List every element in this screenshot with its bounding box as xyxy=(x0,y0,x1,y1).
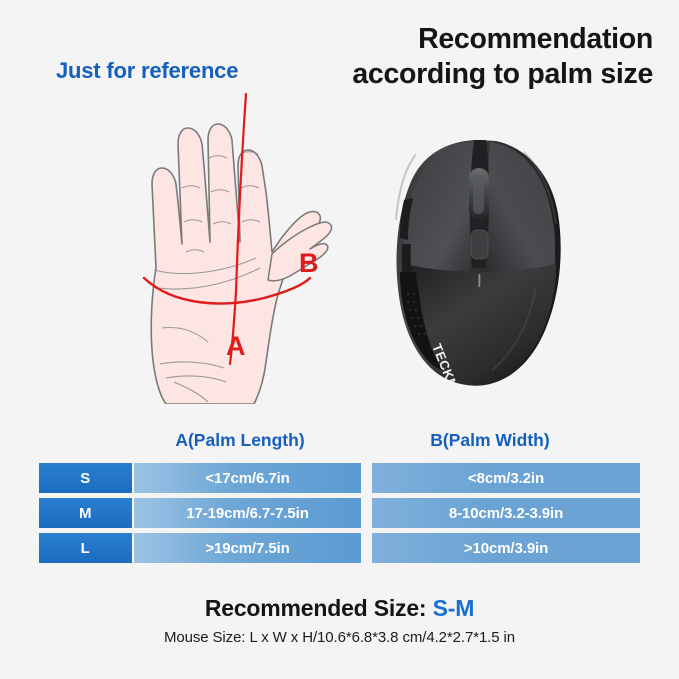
size-label-l: L xyxy=(39,533,132,563)
palm-width-value-l: >10cm/3.9in xyxy=(372,533,640,563)
recommended-size-line: Recommended Size: S-M xyxy=(0,595,679,622)
palm-length-value-s: <17cm/6.7in xyxy=(134,463,361,493)
size-chart-table: S <17cm/6.7in <8cm/3.2in M 17-19cm/6.7-7… xyxy=(39,463,640,563)
column-divider xyxy=(361,463,372,493)
size-label-s: S xyxy=(39,463,132,493)
reference-note: Just for reference xyxy=(56,58,238,84)
page-title-line-2: according to palm size xyxy=(273,57,653,92)
table-row: S <17cm/6.7in <8cm/3.2in xyxy=(39,463,640,493)
palm-length-value-m: 17-19cm/6.7-7.5in xyxy=(134,498,361,528)
mouse-product-image: TECKNET xyxy=(386,136,572,388)
page-title-line-1: Recommendation xyxy=(273,22,653,57)
recommended-size-value: S-M xyxy=(433,595,475,621)
mouse-dimensions-text: Mouse Size: L x W x H/10.6*6.8*3.8 cm/4.… xyxy=(0,629,679,646)
column-header-palm-width: B(Palm Width) xyxy=(375,430,605,451)
column-header-palm-length: A(Palm Length) xyxy=(140,430,340,451)
size-label-m: M xyxy=(39,498,132,528)
table-row: L >19cm/7.5in >10cm/3.9in xyxy=(39,533,640,563)
recommended-size-label: Recommended Size: xyxy=(205,595,427,621)
page-title: Recommendation according to palm size xyxy=(273,22,653,93)
measurement-label-a: A xyxy=(226,331,246,362)
mouse-body xyxy=(396,140,561,386)
palm-length-value-l: >19cm/7.5in xyxy=(134,533,361,563)
palm-width-value-m: 8-10cm/3.2-3.9in xyxy=(372,498,640,528)
palm-width-value-s: <8cm/3.2in xyxy=(372,463,640,493)
infographic-canvas: Recommendation according to palm size Ju… xyxy=(0,0,679,679)
measurement-label-b: B xyxy=(299,248,319,279)
column-divider xyxy=(361,498,372,528)
table-row: M 17-19cm/6.7-7.5in 8-10cm/3.2-3.9in xyxy=(39,498,640,528)
column-divider xyxy=(361,533,372,563)
